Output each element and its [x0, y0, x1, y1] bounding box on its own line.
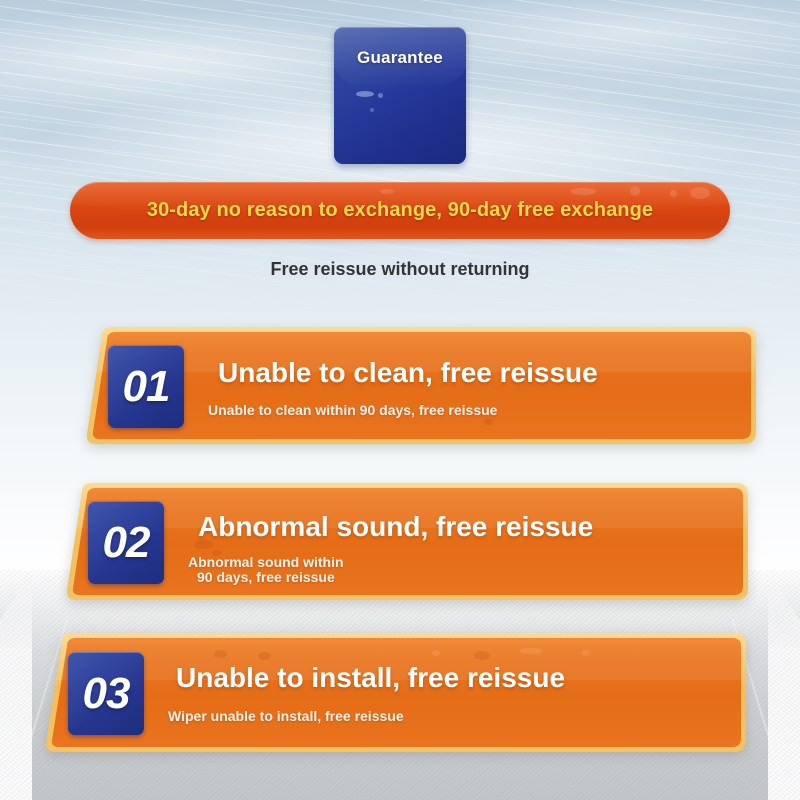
card-title-02: Abnormal sound, free reissue	[198, 511, 593, 543]
water-droplet-icon	[520, 648, 542, 654]
water-droplet-icon	[356, 91, 374, 97]
card-subtitle-01: Unable to clean within 90 days, free rei…	[208, 402, 497, 418]
card-title-03: Unable to install, free reissue	[176, 662, 565, 694]
guarantee-badge-label: Guarantee	[334, 48, 466, 68]
water-droplet-icon	[214, 650, 227, 658]
card-number-01: 01	[123, 365, 170, 409]
water-droplet-icon	[212, 550, 222, 556]
card-number-badge-02: 02	[88, 501, 164, 584]
benefit-card-03: 03 Unable to install, free reissue Wiper…	[42, 628, 754, 758]
card-subtitle-03: Wiper unable to install, free reissue	[168, 708, 404, 724]
lane-line-left	[0, 570, 32, 800]
benefit-card-02: 02 Abnormal sound, free reissue Abnormal…	[64, 478, 756, 606]
card-number-badge-01: 01	[108, 345, 184, 428]
water-droplet-icon	[484, 418, 493, 425]
benefit-card-01: 01 Unable to clean, free reissue Unable …	[84, 322, 764, 450]
card-subtitle-02-line2: 90 days, free reissue	[188, 570, 344, 585]
subheadline-text: Free reissue without returning	[0, 259, 800, 280]
water-droplet-icon	[378, 93, 383, 98]
water-droplet-icon	[370, 108, 374, 112]
guarantee-badge: Guarantee	[334, 27, 466, 164]
water-droplet-icon	[432, 650, 440, 656]
card-number-badge-03: 03	[68, 652, 144, 735]
water-droplet-icon	[258, 652, 271, 660]
card-content-02: 02 Abnormal sound, free reissue Abnormal…	[64, 478, 756, 606]
guarantee-infographic: Guarantee 30-day no reason to exchange, …	[0, 0, 800, 800]
water-droplet-icon	[474, 651, 490, 660]
card-content-01: 01 Unable to clean, free reissue Unable …	[84, 322, 764, 450]
card-subtitle-02: Abnormal sound within 90 days, free reis…	[188, 555, 344, 585]
headline-banner: 30-day no reason to exchange, 90-day fre…	[70, 182, 730, 239]
card-title-01: Unable to clean, free reissue	[218, 357, 598, 389]
water-droplet-icon	[194, 540, 214, 549]
water-droplet-icon	[564, 372, 580, 380]
water-droplet-icon	[582, 650, 590, 656]
card-number-02: 02	[103, 521, 150, 565]
card-content-03: 03 Unable to install, free reissue Wiper…	[42, 628, 754, 758]
headline-banner-text: 30-day no reason to exchange, 90-day fre…	[70, 182, 730, 239]
card-subtitle-02-line1: Abnormal sound within	[188, 554, 344, 570]
lane-line-right	[768, 570, 800, 800]
card-number-03: 03	[83, 672, 130, 716]
